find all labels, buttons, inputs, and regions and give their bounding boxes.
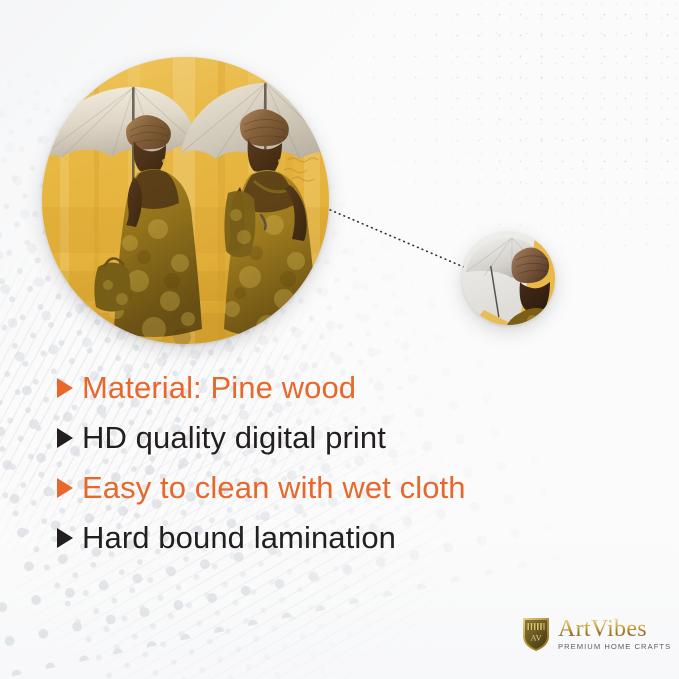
triangle-bullet-icon (57, 478, 73, 498)
feature-label: HD quality digital print (82, 422, 386, 453)
feature-item: Easy to clean with wet cloth (57, 462, 617, 512)
infographic-canvas: Material: Pine wood HD quality digital p… (0, 0, 679, 679)
feature-label: Hard bound lamination (82, 522, 396, 553)
triangle-bullet-icon (57, 428, 73, 448)
feature-label: Material: Pine wood (82, 372, 356, 403)
brand-logo: AV ArtVibes PREMIUM HOME CRAFTS (521, 616, 671, 652)
feature-list: Material: Pine wood HD quality digital p… (57, 362, 617, 562)
brand-tagline: PREMIUM HOME CRAFTS (558, 643, 671, 651)
product-artwork-detail-zoom (462, 232, 555, 325)
triangle-bullet-icon (57, 378, 73, 398)
shield-monogram: AV (530, 633, 542, 643)
brand-name: ArtVibes (558, 617, 671, 641)
feature-item: Material: Pine wood (57, 362, 617, 412)
feature-item: Hard bound lamination (57, 512, 617, 562)
triangle-bullet-icon (57, 528, 73, 548)
feature-item: HD quality digital print (57, 412, 617, 462)
feature-label: Easy to clean with wet cloth (82, 472, 466, 503)
product-artwork-main (42, 57, 329, 344)
shield-crest-icon: AV (521, 616, 551, 652)
